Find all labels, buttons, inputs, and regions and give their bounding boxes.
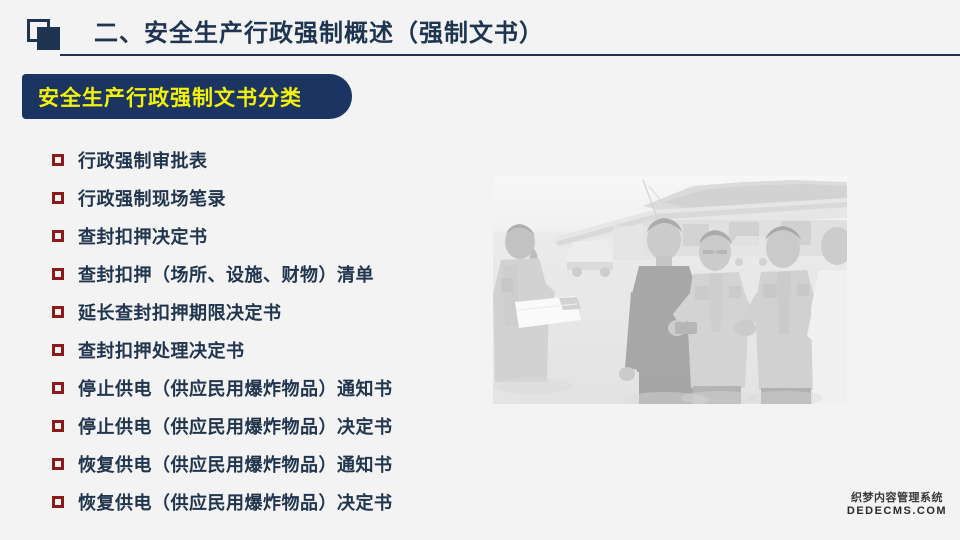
square-bullet-icon <box>52 154 64 166</box>
list-item: 查封扣押处理决定书 <box>52 331 482 369</box>
square-bullet-icon <box>52 192 64 204</box>
page-title: 二、安全生产行政强制概述（强制文书） <box>94 13 544 48</box>
square-bullet-icon <box>52 496 64 508</box>
list-item-label: 停止供电（供应民用爆炸物品）通知书 <box>78 375 393 401</box>
list-item-label: 恢复供电（供应民用爆炸物品）决定书 <box>78 489 393 515</box>
photo-artwork <box>493 176 847 404</box>
list-item: 恢复供电（供应民用爆炸物品）通知书 <box>52 445 482 483</box>
list-item-label: 查封扣押处理决定书 <box>78 337 245 363</box>
watermark-chinese-text: 织梦内容管理系统 <box>838 492 956 505</box>
two-overlapping-squares-icon <box>27 19 63 51</box>
square-bullet-icon <box>52 458 64 470</box>
section-banner: 安全生产行政强制文书分类 <box>22 74 352 119</box>
square-bullet-icon <box>52 382 64 394</box>
square-bullet-icon <box>52 344 64 356</box>
list-item: 查封扣押决定书 <box>52 217 482 255</box>
document-type-list: 行政强制审批表 行政强制现场笔录 查封扣押决定书 查封扣押（场所、设施、财物）清… <box>52 141 482 521</box>
square-bullet-icon <box>52 420 64 432</box>
list-item-label: 延长查封扣押期限决定书 <box>78 299 282 325</box>
slide-root: 二、安全生产行政强制概述（强制文书） 安全生产行政强制文书分类 行政强制审批表 … <box>0 0 960 540</box>
watermark: 织梦内容管理系统 DEDECMS.COM <box>838 492 956 517</box>
square-bullet-icon <box>52 230 64 242</box>
square-filled-shape <box>37 27 60 50</box>
list-item: 停止供电（供应民用爆炸物品）决定书 <box>52 407 482 445</box>
list-item-label: 停止供电（供应民用爆炸物品）决定书 <box>78 413 393 439</box>
slide-header: 二、安全生产行政强制概述（强制文书） <box>0 0 960 62</box>
list-item-label: 查封扣押决定书 <box>78 223 208 249</box>
list-item: 延长查封扣押期限决定书 <box>52 293 482 331</box>
list-item: 行政强制现场笔录 <box>52 179 482 217</box>
inspection-scene-photo <box>493 176 847 404</box>
list-item-label: 恢复供电（供应民用爆炸物品）通知书 <box>78 451 393 477</box>
list-item: 恢复供电（供应民用爆炸物品）决定书 <box>52 483 482 521</box>
list-item-label: 行政强制审批表 <box>78 147 208 173</box>
list-item: 行政强制审批表 <box>52 141 482 179</box>
list-item-label: 查封扣押（场所、设施、财物）清单 <box>78 261 374 287</box>
header-divider <box>60 54 960 56</box>
square-bullet-icon <box>52 268 64 280</box>
square-bullet-icon <box>52 306 64 318</box>
watermark-english-text: DEDECMS.COM <box>838 505 956 518</box>
section-banner-label: 安全生产行政强制文书分类 <box>38 82 302 112</box>
list-item: 查封扣押（场所、设施、财物）清单 <box>52 255 482 293</box>
list-item: 停止供电（供应民用爆炸物品）通知书 <box>52 369 482 407</box>
list-item-label: 行政强制现场笔录 <box>78 185 226 211</box>
